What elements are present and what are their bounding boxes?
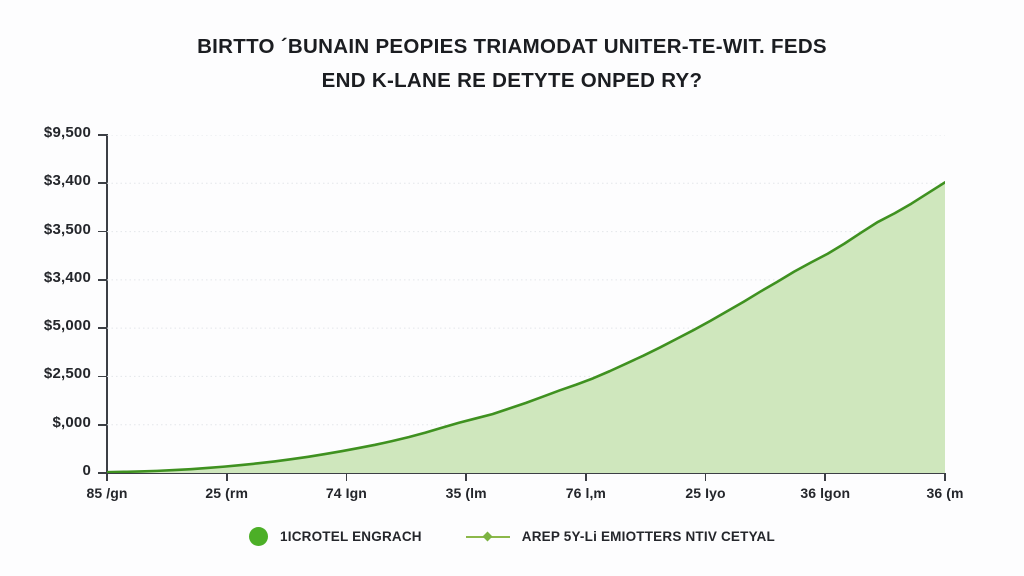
- x-axis-tick-label: 85 /gn: [86, 485, 127, 501]
- y-axis-tick-label: $,000: [52, 414, 91, 431]
- legend-line-marker-icon: [466, 530, 510, 544]
- x-axis-tick-mark: [585, 473, 587, 481]
- x-axis-tick-mark: [465, 473, 467, 481]
- legend-item[interactable]: 1ICROTEL ENGRACH: [249, 527, 422, 546]
- plot-area: [107, 135, 945, 473]
- y-axis-tick-mark: [98, 327, 107, 329]
- x-axis-tick-mark: [705, 473, 707, 481]
- area-series-svg: [107, 135, 945, 473]
- x-axis-tick-label: 74 Ign: [326, 485, 367, 501]
- x-axis-tick-label: 76 l,m: [566, 485, 606, 501]
- y-axis-tick-mark: [98, 134, 107, 136]
- y-axis-tick-mark: [98, 182, 107, 184]
- legend-item-label: AREP 5Y-Li EMIOTTERS NTIV CETYAL: [522, 529, 775, 544]
- y-axis-tick-mark: [98, 424, 107, 426]
- y-axis-tick-label: $3,400: [44, 172, 91, 189]
- y-axis-tick-mark: [98, 376, 107, 378]
- x-axis-tick-mark: [944, 473, 946, 481]
- x-axis-tick-mark: [346, 473, 348, 481]
- x-axis-tick-mark: [226, 473, 228, 481]
- legend-item[interactable]: AREP 5Y-Li EMIOTTERS NTIV CETYAL: [466, 529, 775, 544]
- x-axis-tick-label: 25 (rm: [205, 485, 248, 501]
- legend-circle-icon: [249, 527, 268, 546]
- y-axis-tick-label: $2,500: [44, 365, 91, 382]
- chart-card: BIRTTO ´BUNAIN PEOPIES TRIAMODAT UNITER-…: [0, 0, 1024, 576]
- legend-item-label: 1ICROTEL ENGRACH: [280, 529, 422, 544]
- y-axis-tick-label: $9,500: [44, 124, 91, 141]
- chart-legend: 1ICROTEL ENGRACHAREP 5Y-Li EMIOTTERS NTI…: [0, 527, 1024, 546]
- y-axis-tick-label: 0: [82, 462, 91, 479]
- x-axis-tick-mark: [106, 473, 108, 481]
- x-axis-tick-label: 36 (m: [926, 485, 963, 501]
- chart-title: BIRTTO ´BUNAIN PEOPIES TRIAMODAT UNITER-…: [0, 30, 1024, 98]
- y-axis-tick-label: $3,400: [44, 269, 91, 286]
- y-axis-tick-mark: [98, 279, 107, 281]
- y-axis-tick-label: $5,000: [44, 317, 91, 334]
- x-axis-tick-label: 36 lgon: [800, 485, 850, 501]
- x-axis-tick-mark: [824, 473, 826, 481]
- y-axis-tick-mark: [98, 231, 107, 233]
- x-axis-tick-label: 35 (lm: [446, 485, 487, 501]
- y-axis-tick-label: $3,500: [44, 221, 91, 238]
- x-axis-tick-label: 25 Iyo: [685, 485, 725, 501]
